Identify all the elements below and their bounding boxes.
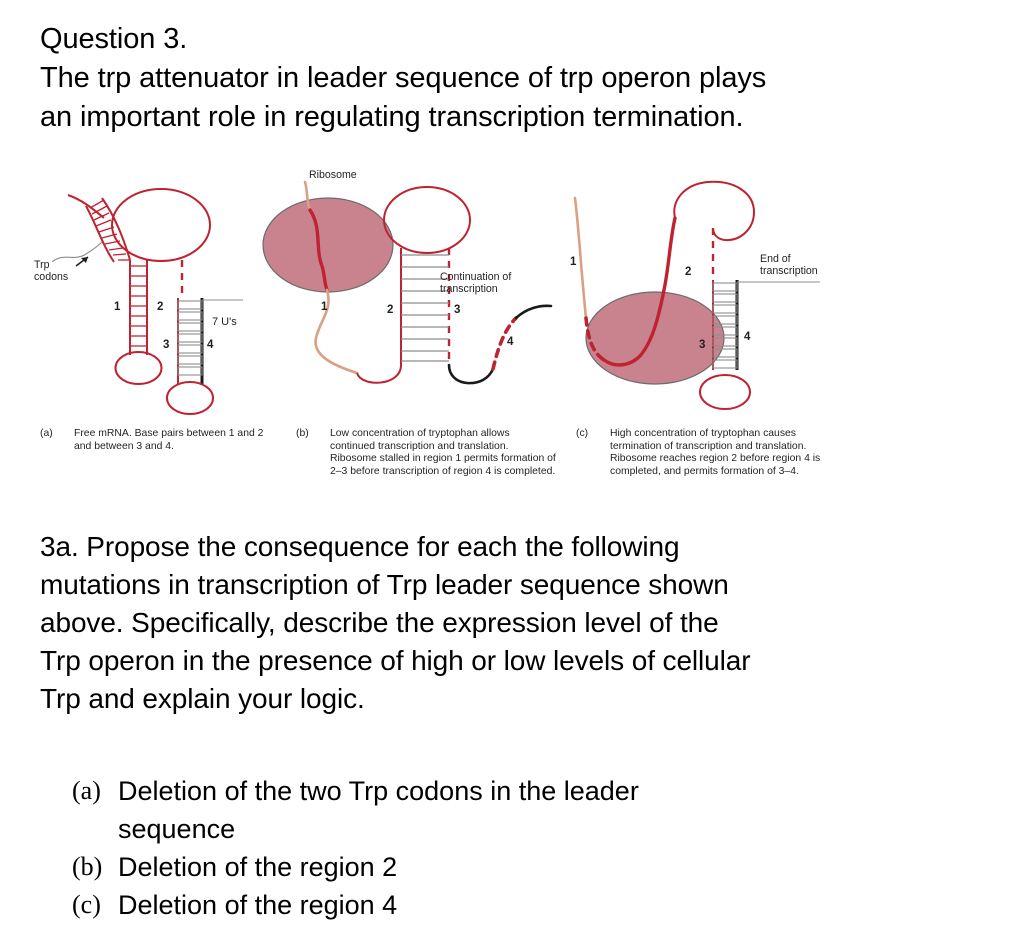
caption-b: (b) Low concentration of tryptophan allo… (296, 428, 556, 478)
panel-a-region-4: 4 (207, 339, 214, 351)
caption-b-tag: (b) (296, 428, 322, 441)
panel-c-region-1: 1 (570, 256, 577, 268)
caption-b-text: Low concentration of tryptophan allows c… (330, 428, 556, 478)
caption-c-tag: (c) (576, 428, 602, 441)
caption-a: (a) Free mRNA. Base pairs between 1 and … (40, 428, 280, 453)
list-item-b-marker: (b) (72, 848, 114, 886)
list-item-c: (c) Deletion of the region 4 (72, 886, 972, 924)
panel-a-stem12-rungs (130, 266, 147, 346)
list-item-b: (b) Deletion of the region 2 (72, 848, 972, 886)
question-3a-body: 3a. Propose the consequence for each the… (40, 528, 990, 718)
body-line-5: Trp and explain your logic. (40, 680, 990, 718)
panel-a-region-2: 2 (157, 301, 163, 313)
body-line-3: above. Specifically, describe the expres… (40, 604, 990, 642)
panel-a-graphic: Trp codons 1 2 3 4 7 U's (34, 189, 243, 414)
ribosome-ellipse-c (586, 292, 724, 384)
panel-a-region-1: 1 (114, 301, 121, 313)
label-end-line2: transcription (760, 265, 818, 277)
caption-c-text: High concentration of tryptophan causes … (610, 428, 846, 478)
panel-c-graphic: 1 2 End of transcription 3 4 (570, 182, 820, 409)
label-seven-us: 7 U's (212, 316, 237, 328)
list-item-a: (a) Deletion of the two Trp codons in th… (72, 772, 972, 848)
label-end-line1: End of (760, 253, 791, 265)
body-line-4: Trp operon in the presence of high or lo… (40, 642, 990, 680)
caption-c: (c) High concentration of tryptophan cau… (576, 428, 846, 478)
label-trp-codons-line2: codons (34, 271, 68, 283)
panel-b-region-1: 1 (321, 301, 328, 313)
mutation-list: (a) Deletion of the two Trp codons in th… (72, 772, 972, 924)
caption-a-tag: (a) (40, 428, 66, 441)
label-ribosome: Ribosome (309, 170, 357, 181)
panel-b-graphic: Ribosome 1 2 3 4 Continuation of transcr… (263, 170, 551, 383)
list-item-c-marker: (c) (72, 886, 114, 924)
figure-captions: (a) Free mRNA. Base pairs between 1 and … (34, 428, 914, 528)
label-trp-codons-line1: Trp (34, 259, 50, 271)
question-header: Question 3. The trp attenuator in leader… (40, 20, 980, 137)
question-title: Question 3. (40, 20, 980, 59)
caption-a-text: Free mRNA. Base pairs between 1 and 2 an… (74, 428, 280, 453)
ribosome-ellipse-b (263, 198, 393, 292)
panel-c-region-2: 2 (685, 266, 691, 278)
panel-a-region-3: 3 (163, 339, 169, 351)
panel-b-region-3: 3 (454, 304, 460, 316)
panel-a-stem34-rungs (178, 301, 202, 375)
panel-c-region-3: 3 (699, 339, 705, 351)
panel-b-region-4: 4 (507, 336, 514, 348)
panel-c-region-4: 4 (744, 331, 751, 343)
panel-b-region-2: 2 (387, 304, 393, 316)
body-line-1: 3a. Propose the consequence for each the… (40, 528, 990, 566)
list-item-c-text: Deletion of the region 4 (118, 886, 972, 924)
list-item-b-text: Deletion of the region 2 (118, 848, 972, 886)
question-stem-line-2: an important role in regulating transcri… (40, 98, 980, 137)
label-continuation-line2: transcription (440, 283, 498, 295)
body-line-2: mutations in transcription of Trp leader… (40, 566, 990, 604)
list-item-a-text: Deletion of the two Trp codons in the le… (118, 772, 972, 848)
label-continuation-line1: Continuation of (440, 271, 511, 283)
question-stem-line-1: The trp attenuator in leader sequence of… (40, 59, 980, 98)
list-item-a-marker: (a) (72, 772, 114, 810)
